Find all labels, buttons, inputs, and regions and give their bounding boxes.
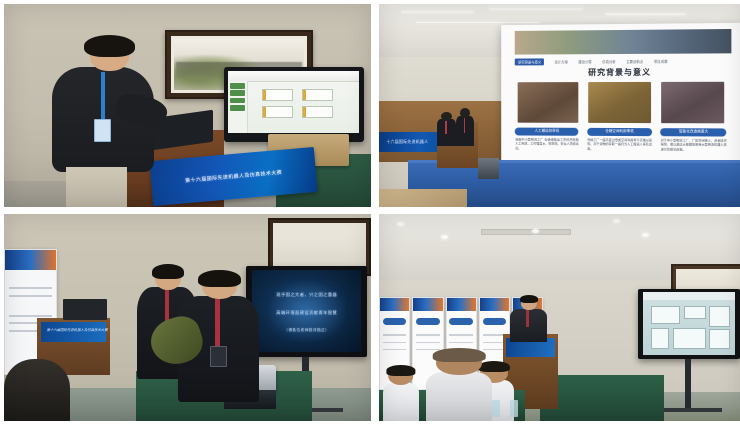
audience-member — [383, 367, 420, 421]
rollup-banner-header — [5, 250, 56, 270]
poster-header — [380, 298, 409, 312]
presenter-figure — [48, 39, 158, 207]
photo-panel-top-left: 第十六届国际先进机器人及仿真技术大赛 — [4, 4, 371, 207]
slide-top-bar — [643, 292, 735, 300]
ceiling-downlight — [397, 222, 404, 226]
diagram-node — [302, 89, 333, 101]
ceiling-vent — [481, 229, 571, 235]
ceiling-downlight — [532, 229, 539, 233]
slide-photo-3 — [661, 82, 724, 124]
stage-presenter-2 — [456, 108, 474, 147]
slide-photo-2 — [589, 82, 651, 124]
poster-header — [480, 298, 509, 312]
display-screen-content: 观乎国之大者，兴之国之重器 高端环境面建设贡献青年智慧 （请各位老师批评指正） — [252, 270, 361, 352]
demo-table — [540, 375, 664, 421]
slide-block — [651, 328, 670, 349]
poster-title-chip — [383, 318, 406, 325]
presenter-lanyard — [101, 72, 105, 123]
diagram-node — [262, 106, 293, 118]
poster-text-line — [416, 334, 439, 336]
wall-display — [638, 289, 740, 359]
presenter-figure — [510, 297, 547, 343]
slide-block — [709, 329, 729, 349]
ceiling-downlight — [441, 235, 448, 239]
slide-line-3: （请各位老师批评指正） — [263, 328, 350, 333]
diagram-node — [302, 106, 333, 118]
slide-block — [673, 328, 706, 349]
ceiling-downlight — [642, 233, 649, 237]
wall-display: 观乎国之大者，兴之国之重器 高端环境面建设贡献青年智慧 （请各位老师批评指正） — [246, 266, 367, 357]
poster-text-line — [383, 349, 406, 351]
poster-text-line — [416, 342, 439, 344]
rollup-text-line — [9, 287, 52, 289]
software-toolbar — [228, 71, 359, 83]
presenter-hair — [84, 35, 135, 57]
slide-column-1-heading: 人工搬运效率低 — [516, 128, 580, 136]
stage-banner-text: 十六届国际先进机器人 — [386, 139, 428, 145]
ceiling-downlight — [613, 219, 620, 223]
ceiling-light — [401, 11, 474, 13]
slide-column-3-heading: 智能化改造难度大 — [661, 128, 727, 136]
display-stand-base — [657, 408, 722, 412]
poster-header — [447, 298, 476, 312]
floor-carpet — [379, 189, 467, 207]
ceiling-light — [605, 13, 685, 15]
slide-column-1-body: 目前中小型物流工厂 仓储或搬运工序依然依赖人工完成，工作强度大，效率低，安全人员… — [516, 137, 580, 151]
ceiling-light — [489, 8, 584, 10]
podium-laptop — [63, 299, 107, 320]
slide-nav-item-1: 设计方案 — [555, 60, 568, 65]
slide-block — [684, 306, 706, 319]
slide-header-image-strip — [516, 29, 733, 54]
slide-nav-item-0: 研究背景与意义 — [516, 59, 545, 66]
display-screen-content — [643, 292, 735, 355]
photo-panel-bottom-right — [379, 214, 740, 421]
slide-column-2-body: 传统工厂一般高度过低或空间利用率不高难以实现，对于货物的存取一般仍为人工搬运入库… — [588, 138, 653, 152]
slide-line-1: 观乎国之大者，兴之国之重器 — [263, 292, 350, 298]
slide-block — [651, 306, 681, 324]
poster-text-line — [449, 334, 472, 336]
slide-nav-item-4: 主要创新点 — [627, 59, 644, 64]
wall-display — [224, 67, 363, 142]
photo-collage: 第十六届国际先进机器人及仿真技术大赛 研究背景与意义 设计方案 — [0, 0, 740, 425]
poster-title-chip — [483, 318, 506, 325]
display-screen-content — [228, 71, 359, 133]
podium-banner-text: 第十六届国际先进机器人及仿真技术大赛 — [185, 169, 282, 184]
water-bottle — [492, 400, 500, 417]
presenter-legs — [66, 167, 128, 207]
audience-head-foreground — [4, 359, 70, 421]
photo-panel-top-right: 研究背景与意义 设计方案 建设计算 仿真分析 主要创新点 项目成果 研究背景与意… — [379, 4, 740, 207]
diagram-node — [262, 89, 293, 101]
display-stand-pole — [685, 359, 691, 410]
ceiling-light — [416, 22, 540, 23]
water-bottle — [510, 400, 518, 417]
presentation-slide: 研究背景与意义 设计方案 建设计算 仿真分析 主要创新点 项目成果 研究背景与意… — [502, 23, 740, 174]
slide-column-2-heading: 仓储空间利用率低 — [588, 128, 653, 136]
slide-line-2: 高端环境面建设贡献青年智慧 — [263, 310, 350, 316]
slide-nav-item-2: 建设计算 — [579, 60, 592, 65]
poster-text-line — [449, 342, 472, 344]
slide-title: 研究背景与意义 — [502, 67, 740, 79]
poster-title-chip — [416, 318, 439, 325]
poster-title-chip — [449, 318, 472, 325]
slide-nav-item-5: 项目成果 — [654, 59, 668, 64]
poster-text-line — [383, 342, 406, 344]
slide-column-3-body: 对于中小型物流工厂，厂区空间狭小、资金技术有限，难以通过大规模地使用大型物流机器… — [661, 138, 727, 152]
slide-block — [709, 306, 729, 327]
presenter-badge — [94, 119, 110, 141]
photo-panel-bottom-left: 观乎国之大者，兴之国之重器 高端环境面建设贡献青年智慧 （请各位老师批评指正） … — [4, 214, 371, 421]
slide-photo-1 — [518, 82, 579, 123]
slide-nav-item-3: 仿真分析 — [603, 60, 616, 65]
poster-text-line — [383, 334, 406, 336]
podium-banner-text: 第十六届国际先进机器人及仿真技术大赛 — [47, 327, 108, 332]
slide-photo-row — [518, 82, 725, 124]
software-sidebar — [228, 81, 247, 133]
rollup-text-line — [9, 295, 52, 297]
stage-presenter-1 — [437, 112, 455, 147]
rollup-text-line — [9, 315, 52, 317]
demo-robot — [478, 158, 500, 178]
poster-header — [413, 298, 442, 312]
audience-member — [426, 351, 492, 421]
